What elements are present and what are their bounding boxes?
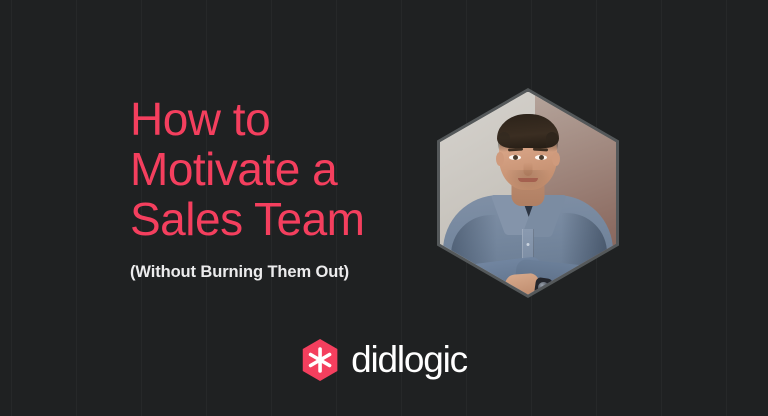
photo-mouth: [518, 178, 538, 182]
photo-hair-fade-left: [498, 132, 510, 152]
headline-line-2: Motivate a: [130, 144, 430, 194]
photo-ear-right: [552, 152, 560, 166]
photo-pupil-right: [539, 155, 544, 160]
portrait-photo: [440, 92, 616, 295]
didlogic-hexagon-icon: [301, 338, 339, 382]
photo-shirt-button: [527, 243, 530, 246]
headline-block: How to Motivate a Sales Team (Without Bu…: [130, 94, 430, 282]
brand-wordmark: didlogic: [351, 341, 467, 379]
photo-eye-right: [535, 155, 547, 160]
headline-line-3: Sales Team: [130, 194, 430, 244]
portrait-photo-content: [440, 92, 616, 295]
photo-shirt: [443, 195, 613, 295]
portrait-hexagon: [437, 88, 619, 298]
brand-logo: didlogic: [301, 338, 467, 382]
photo-hair-fade-right: [546, 132, 558, 152]
photo-ear-left: [496, 152, 504, 166]
headline-line-1: How to: [130, 94, 430, 144]
photo-eyebrow-left: [508, 147, 523, 151]
promo-slide: How to Motivate a Sales Team (Without Bu…: [0, 0, 768, 416]
photo-pupil-left: [513, 155, 518, 160]
photo-nose: [524, 162, 533, 176]
photo-eye-left: [509, 155, 521, 160]
subtitle: (Without Burning Them Out): [130, 263, 430, 282]
